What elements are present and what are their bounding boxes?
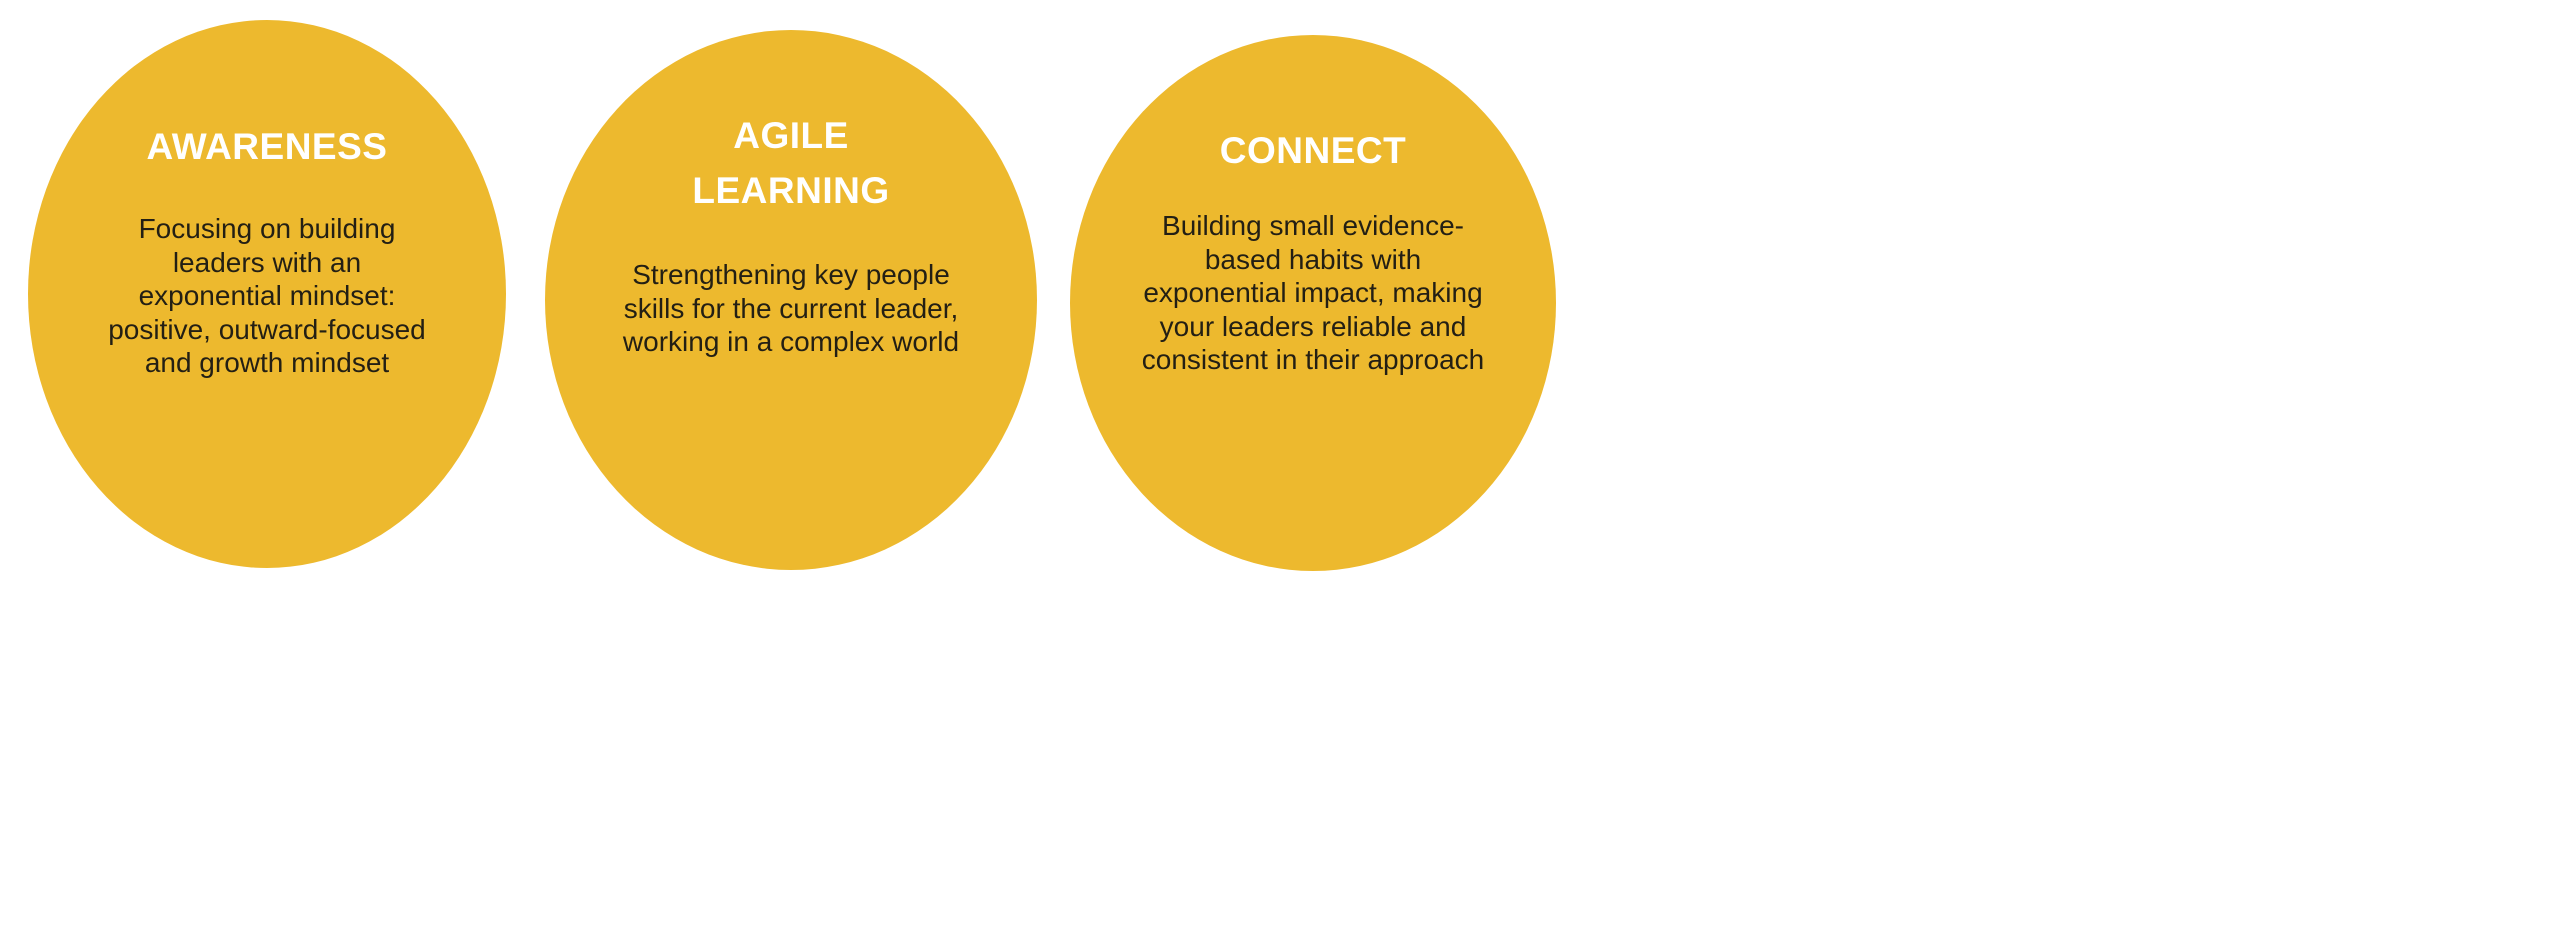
pillar-body-line: positive, outward-focused (42, 313, 492, 347)
pillar-body-line: skills for the current leader, (563, 292, 1019, 326)
pillar-body-awareness: Focusing on building leaders with an exp… (28, 212, 506, 380)
pillar-content-agile-learning: AGILE LEARNING Strengthening key people … (545, 108, 1037, 359)
pillar-body-line: Strengthening key people (563, 258, 1019, 292)
pillar-title-connect: CONNECT (1070, 129, 1556, 173)
pillar-body-connect: Building small evidence- based habits wi… (1070, 209, 1556, 377)
pillar-body-line: and growth mindset (42, 346, 492, 380)
pillar-title-awareness: AWARENESS (28, 125, 506, 169)
pillar-body-line: consistent in their approach (1080, 343, 1546, 377)
pillar-body-line: exponential mindset: (42, 279, 492, 313)
pillar-title-line: CONNECT (1070, 129, 1556, 173)
pillar-body-line: Building small evidence- (1080, 209, 1546, 243)
pillar-title-line: LEARNING (545, 163, 1037, 218)
pillar-title-agile-learning: AGILE LEARNING (545, 108, 1037, 218)
diagram-canvas: AWARENESS Focusing on building leaders w… (0, 0, 2560, 926)
pillar-body-line: leaders with an (42, 246, 492, 280)
pillar-circle-connect[interactable]: CONNECT Building small evidence- based h… (1070, 35, 1556, 571)
pillar-circle-agile-learning[interactable]: AGILE LEARNING Strengthening key people … (545, 30, 1037, 570)
pillar-title-line: AGILE (545, 108, 1037, 163)
pillar-body-line: working in a complex world (563, 325, 1019, 359)
pillar-body-agile-learning: Strengthening key people skills for the … (545, 258, 1037, 359)
pillar-body-line: exponential impact, making (1080, 276, 1546, 310)
pillar-circle-awareness[interactable]: AWARENESS Focusing on building leaders w… (28, 20, 506, 568)
pillar-body-line: your leaders reliable and (1080, 310, 1546, 344)
pillar-body-line: based habits with (1080, 243, 1546, 277)
pillar-content-connect: CONNECT Building small evidence- based h… (1070, 129, 1556, 377)
pillar-content-awareness: AWARENESS Focusing on building leaders w… (28, 125, 506, 380)
pillar-title-line: AWARENESS (28, 125, 506, 169)
pillar-body-line: Focusing on building (42, 212, 492, 246)
